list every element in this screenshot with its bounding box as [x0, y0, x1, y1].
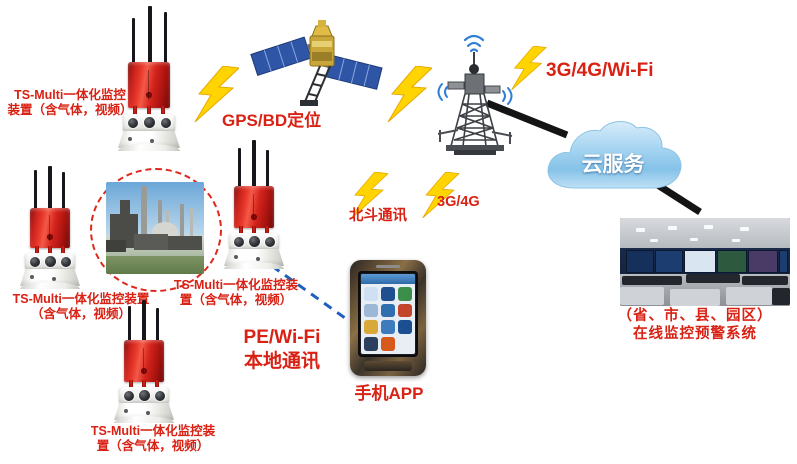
device-sensor-port: [265, 237, 275, 247]
plant-chimney: [141, 186, 147, 234]
cloud-service-node[interactable]: 云服务: [539, 118, 687, 196]
device-logo-dot: [146, 92, 152, 98]
app-icon[interactable]: [398, 287, 412, 301]
pda-app-label: 手机APP: [344, 384, 434, 405]
device-antenna: [252, 140, 256, 190]
device-red-housing: [234, 186, 274, 228]
pda-lcd: [361, 274, 415, 354]
device-top-left[interactable]: [106, 4, 202, 150]
ceiling-light: [668, 226, 677, 230]
device-cone-bottom: [20, 282, 80, 289]
plant-structure: [168, 236, 202, 250]
control-room-photo: [620, 218, 790, 306]
device-antenna: [148, 6, 152, 68]
device-antenna: [132, 18, 135, 68]
ceiling-light: [636, 228, 645, 232]
app-icon: [398, 337, 412, 351]
device-antenna: [34, 170, 37, 212]
industrial-plant-photo: [106, 182, 204, 274]
app-icon[interactable]: [381, 287, 395, 301]
device-sensor-port: [128, 118, 138, 128]
device-indicator: [146, 411, 150, 415]
video-wall-screen: [626, 250, 654, 273]
device-cone-bottom: [118, 144, 180, 151]
ceiling-light: [690, 238, 698, 241]
ceiling-light: [740, 227, 749, 231]
device-antenna: [164, 12, 167, 68]
app-icon[interactable]: [398, 320, 412, 334]
device-sensor-port: [161, 118, 171, 128]
device-center[interactable]: [218, 140, 308, 270]
app-icon[interactable]: [364, 287, 378, 301]
device-sensor-port: [30, 257, 40, 267]
console-desk-front: [772, 288, 790, 305]
cloud-service-label: 云服务: [539, 148, 687, 178]
mobile-3g4g-link-label: 3G/4G: [437, 194, 507, 212]
video-wall-screen: [748, 250, 778, 273]
plant-building: [120, 200, 130, 216]
device-indicator: [124, 409, 128, 413]
beidou-link-label: 北斗通讯: [349, 208, 439, 226]
device-cone-bottom: [224, 262, 284, 269]
pda-status-bar: [361, 274, 415, 284]
device-antenna: [266, 150, 269, 190]
device-antenna: [156, 308, 159, 344]
device-logo-dot: [251, 214, 257, 220]
handheld-pda-device[interactable]: [350, 260, 426, 376]
plant-structure: [106, 240, 126, 252]
device-center-label: TS-Multi一体化监控装 置（含气体，视频）: [162, 278, 310, 309]
app-icon[interactable]: [381, 304, 395, 318]
console-desk: [686, 274, 740, 283]
diagram-canvas: 云服务: [0, 0, 797, 464]
device-indicator: [256, 257, 260, 261]
video-wall-screen: [779, 250, 788, 273]
device-logo-dot: [141, 368, 147, 374]
ceiling-light: [704, 225, 713, 229]
device-antenna: [142, 300, 146, 344]
device-sensor-ring: [229, 233, 279, 250]
device-red-housing: [124, 340, 164, 382]
communication-tower-icon: [424, 22, 528, 156]
control-room-label: （省、市、县、园区） 在线监控预警系统: [600, 308, 790, 343]
app-icon[interactable]: [381, 337, 395, 351]
device-top-left-label: TS-Multi一体化监控 装置（含气体，视频）: [2, 88, 138, 119]
device-logo-dot: [47, 234, 53, 240]
gps-link-label: GPS/BD定位: [222, 111, 357, 132]
device-sensor-port: [234, 237, 244, 247]
video-wall-screen: [717, 250, 747, 273]
ceiling-light: [650, 239, 658, 242]
console-desk-front: [670, 289, 720, 306]
device-red-housing: [30, 208, 70, 248]
pda-app-grid[interactable]: [364, 287, 412, 351]
device-bottom-left[interactable]: [108, 306, 198, 430]
device-antenna: [128, 306, 131, 344]
app-icon[interactable]: [364, 320, 378, 334]
device-antenna: [62, 172, 65, 212]
device-bottom-left-label: TS-Multi一体化监控装 置（含气体，视频）: [78, 424, 228, 455]
room-ceiling: [620, 218, 790, 248]
console-desk: [742, 276, 788, 285]
device-indicator: [52, 277, 56, 281]
console-desk-front: [726, 287, 772, 305]
local-comm-link-label: PE/Wi-Fi 本地通讯: [226, 326, 338, 374]
plant-ground: [106, 256, 204, 274]
device-indicator: [128, 137, 132, 141]
device-sensor-port: [155, 391, 165, 401]
device-sensor-port: [45, 256, 56, 267]
device-sensor-port: [139, 390, 150, 401]
video-wall-screen: [684, 250, 716, 273]
device-antenna: [238, 148, 241, 190]
ceiling-light: [732, 239, 740, 242]
plant-structure: [134, 234, 168, 250]
pda-screen[interactable]: [358, 271, 418, 357]
satellite-icon: [250, 8, 384, 108]
device-sensor-ring: [25, 253, 75, 270]
device-sensor-port: [61, 257, 71, 267]
device-cone-bottom: [114, 416, 174, 423]
pda-speaker: [376, 265, 400, 268]
device-indicator: [150, 139, 154, 143]
plant-column: [180, 204, 184, 238]
mobile-3g4g-wifi-link-label: 3G/4G/Wi-Fi: [546, 59, 726, 82]
device-sensor-port: [249, 236, 260, 247]
device-sensor-ring: [119, 387, 169, 404]
app-icon[interactable]: [381, 320, 395, 334]
video-wall-screen: [655, 250, 683, 273]
app-icon[interactable]: [364, 337, 378, 351]
device-sensor-port: [144, 117, 155, 128]
console-desk: [622, 276, 682, 285]
device-antenna: [48, 166, 52, 212]
pda-keypad[interactable]: [364, 361, 412, 371]
device-sensor-port: [124, 391, 134, 401]
console-desk-front: [620, 287, 664, 305]
app-icon[interactable]: [364, 304, 378, 318]
device-mid-left[interactable]: [14, 170, 102, 296]
device-indicator: [234, 255, 238, 259]
device-indicator: [30, 275, 34, 279]
app-icon[interactable]: [398, 304, 412, 318]
